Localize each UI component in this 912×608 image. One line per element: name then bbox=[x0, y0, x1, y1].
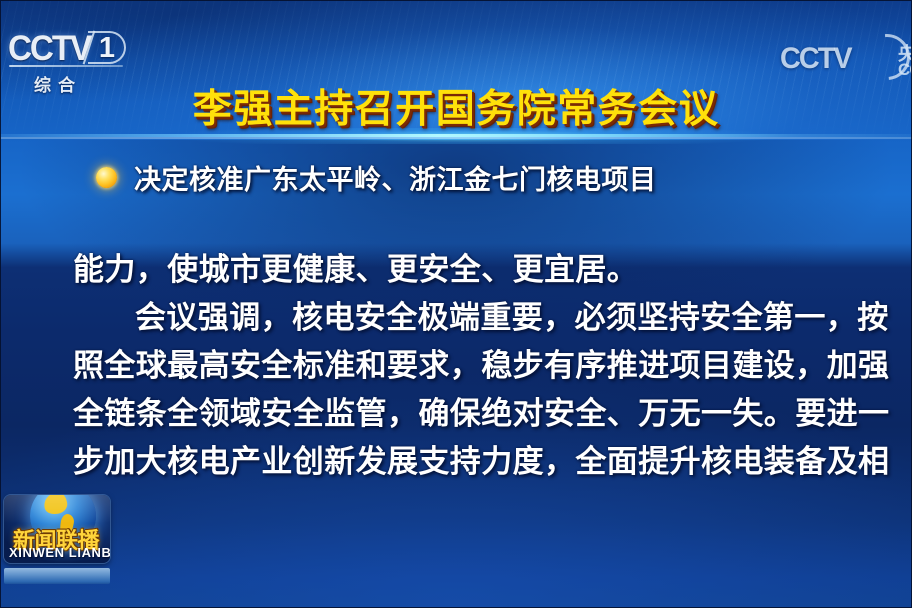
cctv1-logo-row: CCTV 1 bbox=[8, 31, 126, 69]
gold-dot-icon bbox=[96, 167, 117, 188]
body-line: 全链条全领域安全监管，确保绝对安全、万无一失。要进一 bbox=[73, 390, 883, 438]
subtitle-text: 决定核准广东太平岭、浙江金七门核电项目 bbox=[134, 158, 657, 197]
program-bug-strip bbox=[4, 568, 110, 584]
body-line: 会议强调，核电安全极端重要，必须坚持安全第一，按 bbox=[73, 294, 883, 342]
headline-title: 李强主持召开国务院常务会议 bbox=[0, 78, 912, 134]
cctv-corner-watermark: CCTV 央 CC bbox=[780, 32, 912, 80]
cctv1-underline-icon bbox=[9, 65, 123, 67]
watermark-cn-line2: CC bbox=[898, 60, 912, 80]
body-line: 照全球最高安全标准和要求，稳步有序推进项目建设，加强 bbox=[73, 342, 883, 390]
divider-line-secondary-icon bbox=[0, 137, 912, 139]
body-line: 步加大核电产业创新发展支持力度，全面提升核电装备及相 bbox=[73, 438, 883, 486]
body-line: 能力，使城市更健康、更安全、更宜居。 bbox=[73, 246, 883, 294]
program-name-en: XINWEN LIANBO bbox=[9, 545, 110, 560]
cctv-wordmark: CCTV bbox=[8, 29, 90, 69]
body-paragraph: 能力，使城市更健康、更安全、更宜居。 会议强调，核电安全极端重要，必须坚持安全第… bbox=[73, 246, 883, 486]
program-bug: 新闻联播 XINWEN LIANBO bbox=[4, 495, 110, 563]
subtitle-row: 决定核准广东太平岭、浙江金七门核电项目 bbox=[96, 158, 657, 197]
cctv1-channel-number: 1 bbox=[99, 32, 115, 65]
broadcast-frame: CCTV 1 综合 CCTV 央 CC 李强主持召开国务院常务会议 决定核准广东… bbox=[0, 0, 912, 608]
header-divider bbox=[0, 128, 912, 144]
watermark-wordmark: CCTV bbox=[780, 42, 851, 76]
